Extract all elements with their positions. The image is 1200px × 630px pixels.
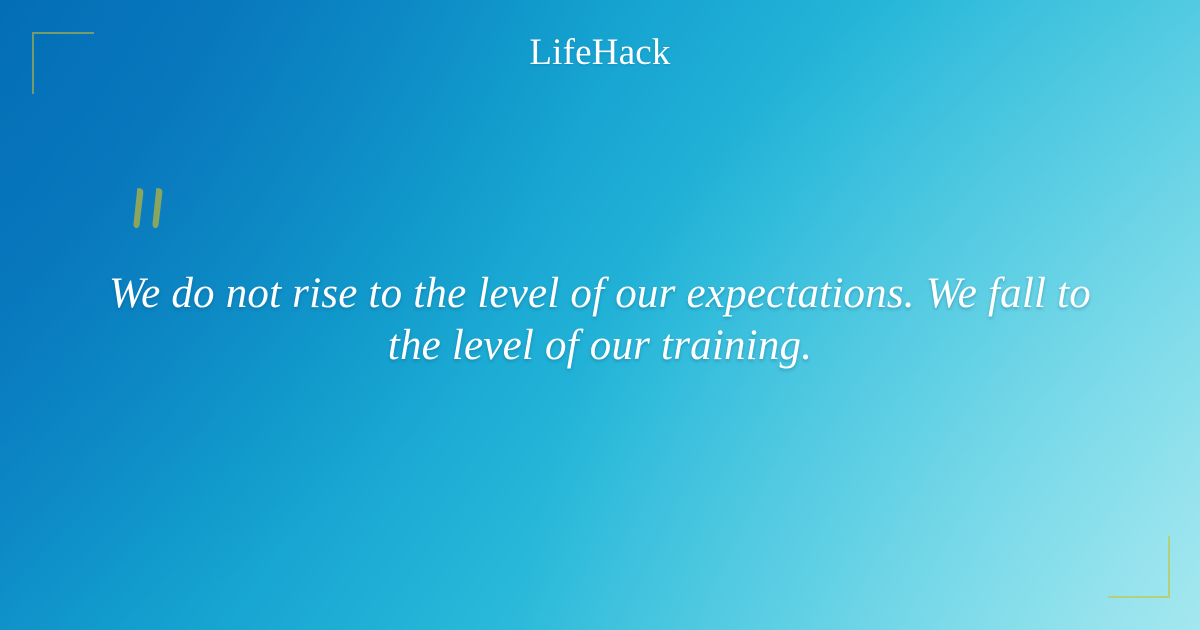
brand-logo: LifeHack [529, 34, 670, 71]
quote-text: We do not rise to the level of our expec… [96, 268, 1104, 373]
quote-mark-icon [131, 186, 177, 238]
quote-card: LifeHack We do not rise to the level of … [0, 0, 1200, 630]
corner-bracket-bottom-right-icon [1108, 536, 1170, 598]
brand-header: LifeHack [0, 0, 1200, 120]
